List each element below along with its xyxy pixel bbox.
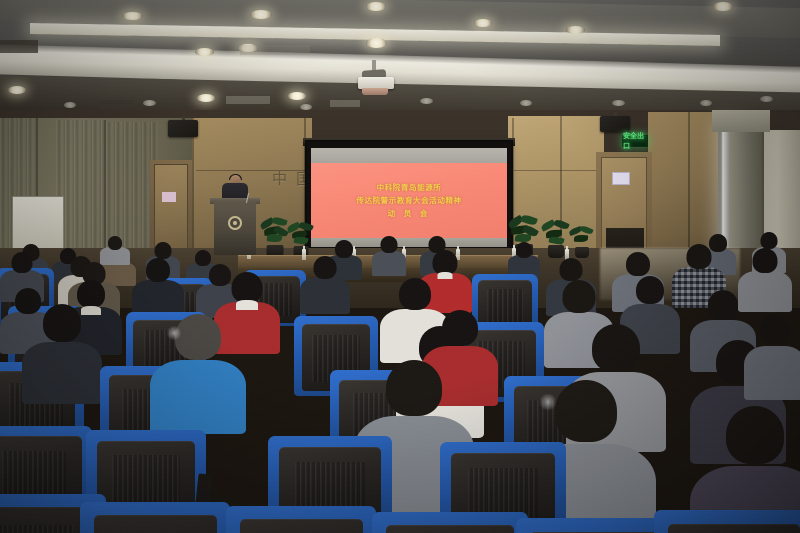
auditorium-chair[interactable] [516, 518, 674, 533]
conference-room-photo: 中国 所 安全出口 中科院青岛能源所 传达院警示教育大会活动精神 动 员 会 [0, 0, 800, 533]
downlight-icon [420, 98, 433, 104]
slide-line-1: 中科院青岛能源所 [377, 182, 442, 193]
door-right-sign [612, 172, 630, 185]
downlight-icon [474, 19, 492, 27]
audience-member [150, 314, 246, 430]
projector-lens-icon [362, 88, 388, 95]
downlight-icon [612, 100, 625, 106]
downlight-icon [250, 10, 272, 19]
downlight-icon [64, 102, 76, 108]
downlight-icon [122, 12, 143, 20]
door-left-sign [162, 192, 176, 202]
audience-member [744, 314, 800, 398]
wall-speaker-left [168, 120, 198, 137]
presentation-slide: 中科院青岛能源所 传达院警示教育大会活动精神 动 员 会 [311, 163, 507, 238]
window-valance [712, 110, 770, 132]
wall-speaker-right [600, 116, 630, 132]
downlight-icon [143, 100, 156, 106]
screen-top-band [311, 148, 507, 163]
institute-emblem-icon [228, 216, 242, 230]
wall-seam [514, 170, 602, 171]
ceiling-grille [240, 45, 310, 55]
downlight-icon [197, 94, 215, 102]
ceiling-grille [226, 96, 270, 104]
auditorium-chair[interactable] [226, 506, 376, 533]
audience-area [0, 230, 800, 533]
auditorium-chair[interactable] [654, 510, 800, 533]
downlight-icon [713, 2, 733, 11]
exit-sign: 安全出口 [622, 135, 648, 147]
audience-member [508, 242, 540, 276]
downlight-icon [366, 2, 386, 11]
slide-line-3: 动 员 会 [388, 208, 431, 219]
audience-member [300, 256, 350, 312]
audience-member [372, 236, 406, 274]
downlight-icon [760, 96, 773, 102]
audience-member [132, 258, 184, 316]
downlight-icon [566, 26, 585, 34]
downlight-icon [366, 38, 387, 48]
auditorium-chair[interactable] [80, 502, 230, 533]
downlight-icon [8, 86, 26, 94]
downlight-icon [195, 48, 214, 56]
audience-member [22, 304, 102, 400]
downlight-icon [288, 92, 306, 100]
ceiling-vent [0, 40, 38, 53]
audience-member [100, 236, 130, 264]
downlight-icon [520, 100, 532, 106]
auditorium-chair[interactable] [372, 512, 528, 533]
slide-line-2: 传达院警示教育大会活动精神 [356, 195, 461, 206]
ceiling-vent [100, 100, 134, 109]
ceiling-grille [330, 100, 360, 107]
downlight-icon [700, 100, 712, 106]
exit-sign-label: 安全出口 [623, 131, 647, 151]
